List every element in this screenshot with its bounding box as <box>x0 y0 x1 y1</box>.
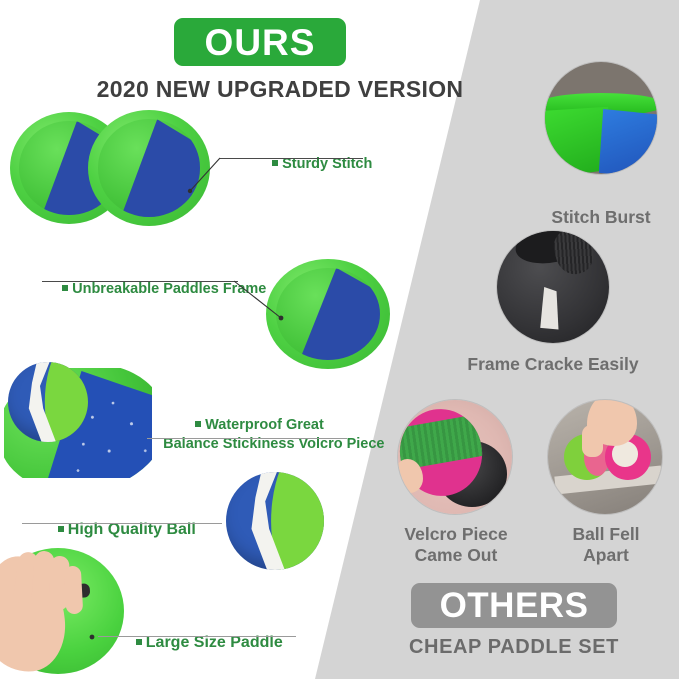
others-badge-label: OTHERS <box>440 588 589 623</box>
annotation-large-size-paddle: Large Size Paddle <box>118 613 283 673</box>
ball-fell-apart-image <box>548 400 662 514</box>
caption-frame-cracke-easily: Frame Cracke Easily <box>461 354 645 375</box>
hand-finger-4 <box>64 566 83 615</box>
stitch-burst-blue-fabric <box>599 109 657 174</box>
comparison-infographic: OURS 2020 NEW UPGRADED VERSION Sturdy St… <box>0 0 679 679</box>
caption-ball-fell-apart: Ball Fell Apart <box>546 524 666 566</box>
quality-ball-image <box>226 472 324 570</box>
ours-badge: OURS <box>174 18 346 66</box>
bullet-square-icon <box>62 285 68 291</box>
annotation-sturdy-stitch-leader <box>180 155 228 195</box>
annotation-large-size-paddle-rule <box>98 636 296 637</box>
annotation-waterproof-line2: Balance Stickiness Volcro Piece <box>147 417 385 471</box>
caption-velcro-piece-came-out: Velcro Piece Came Out <box>378 524 534 566</box>
annotation-sturdy-stitch-rule <box>220 158 363 159</box>
annotation-high-quality-ball-rule <box>22 523 222 524</box>
annotation-unbreakable-frame-rule <box>42 281 238 282</box>
single-paddle-inner <box>276 268 380 360</box>
velcro-came-out-image <box>398 400 512 514</box>
annotation-large-size-paddle-leader <box>88 630 110 644</box>
annotation-waterproof-rule <box>147 438 347 439</box>
others-subtitle: CHEAP PADDLE SET <box>391 636 637 659</box>
frame-crack-image <box>497 231 609 343</box>
bullet-square-icon <box>272 160 278 166</box>
ours-badge-label: OURS <box>205 24 316 61</box>
single-paddle-velcro <box>276 268 380 360</box>
ours-subtitle: 2020 NEW UPGRADED VERSION <box>0 76 560 103</box>
bullet-square-icon <box>136 639 142 645</box>
caption-stitch-burst: Stitch Burst <box>527 207 675 228</box>
ball-fell-apart-finger <box>582 425 603 457</box>
annotation-sturdy-stitch: Sturdy Stitch <box>256 137 372 191</box>
waterproof-ball <box>8 362 88 442</box>
bullet-square-icon <box>58 526 64 532</box>
others-badge: OTHERS <box>411 583 617 628</box>
stitch-burst-image <box>545 62 657 174</box>
annotation-unbreakable-frame-leader <box>232 278 290 324</box>
